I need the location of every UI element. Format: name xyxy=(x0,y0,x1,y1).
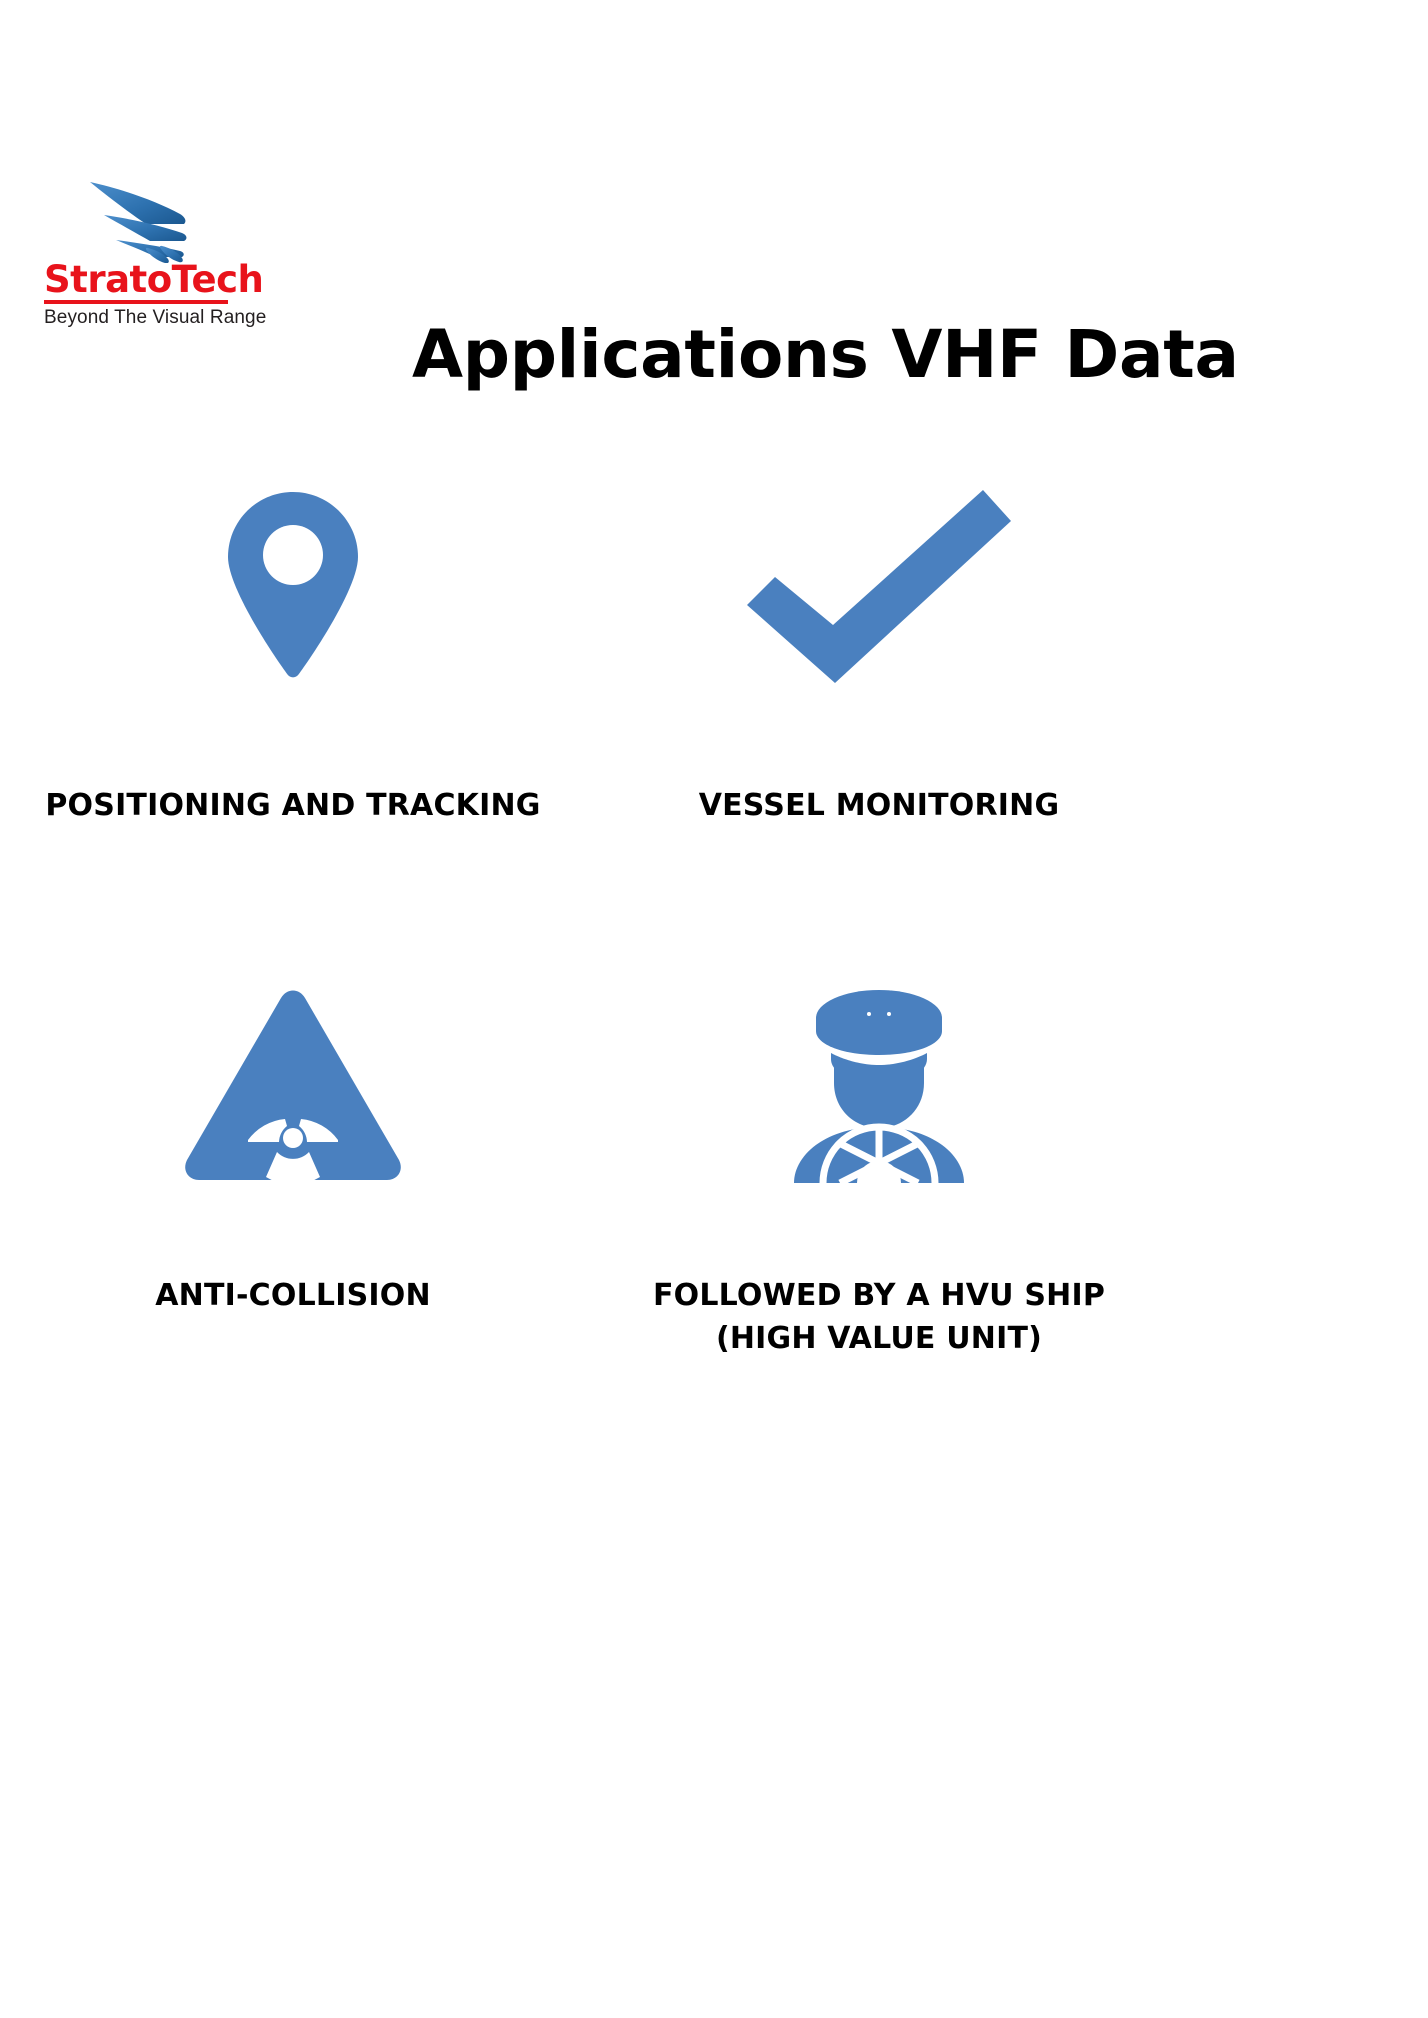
ship-captain-icon xyxy=(786,987,972,1183)
brand-logo: StratoTech Beyond The Visual Range xyxy=(44,178,274,329)
grid-item-vessel-monitoring: VESSEL MONITORING xyxy=(586,470,1172,970)
grid-item-label: FOLLOWED BY A HVU SHIP (HIGH VALUE UNIT) xyxy=(619,1275,1139,1360)
grid-item-anti-collision: ANTI-COLLISION xyxy=(0,970,586,1480)
radiation-warning-triangle-icon xyxy=(183,988,403,1182)
slide: StratoTech Beyond The Visual Range Appli… xyxy=(0,0,1428,2018)
grid-item-positioning: POSITIONING AND TRACKING xyxy=(0,470,586,970)
wing-icon xyxy=(84,178,204,263)
icon-container xyxy=(183,970,403,1200)
location-pin-icon xyxy=(228,492,358,678)
icon-container xyxy=(745,470,1013,700)
page-title: Applications VHF Data xyxy=(412,316,1239,393)
brand-name: StratoTech xyxy=(44,261,274,299)
application-grid: POSITIONING AND TRACKING VESSEL MONITORI… xyxy=(0,470,1428,1480)
grid-item-spacer xyxy=(1172,470,1428,970)
icon-container xyxy=(228,470,358,700)
grid-item-spacer xyxy=(1172,970,1428,1480)
brand-tagline: Beyond The Visual Range xyxy=(44,307,274,329)
icon-container xyxy=(786,970,972,1200)
checkmark-icon xyxy=(745,485,1013,685)
grid-item-label: ANTI-COLLISION xyxy=(155,1275,431,1318)
grid-item-hvu-ship: FOLLOWED BY A HVU SHIP (HIGH VALUE UNIT) xyxy=(586,970,1172,1480)
grid-item-label: VESSEL MONITORING xyxy=(699,785,1060,828)
grid-item-label: POSITIONING AND TRACKING xyxy=(45,785,540,828)
